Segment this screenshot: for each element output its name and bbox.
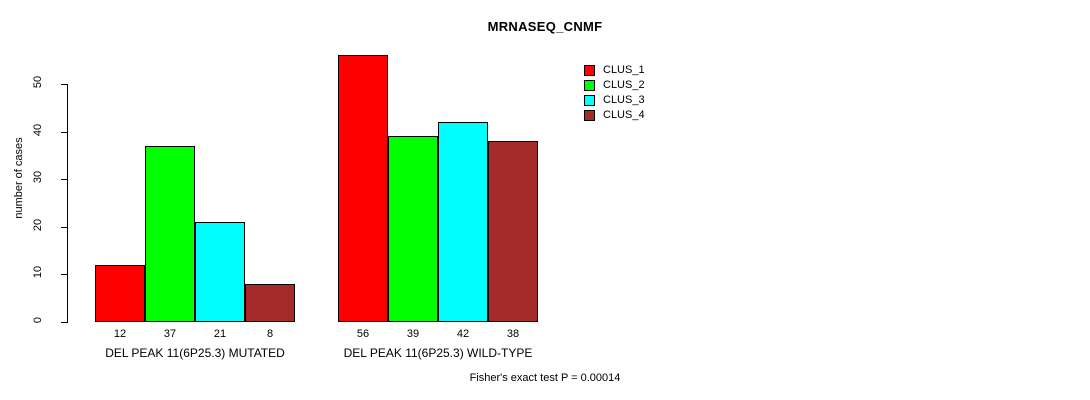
legend-item: CLUS_4 xyxy=(584,108,724,123)
y-tick-label: 50 xyxy=(32,62,44,102)
legend-label: CLUS_4 xyxy=(603,108,645,123)
bar xyxy=(245,284,295,322)
bar xyxy=(95,265,145,322)
y-tick-mark xyxy=(61,179,68,180)
y-tick-mark xyxy=(61,84,68,85)
legend-color-swatch xyxy=(584,95,595,106)
statistical-test-annotation: Fisher's exact test P = 0.00014 xyxy=(0,372,1090,384)
legend-item: CLUS_3 xyxy=(584,93,724,108)
legend-item: CLUS_2 xyxy=(584,78,724,93)
y-tick-mark xyxy=(61,274,68,275)
bar-value-label: 39 xyxy=(388,328,438,340)
barplot-figure: MRNASEQ_CNMF 01020304050 number of cases… xyxy=(0,0,1090,400)
bar-value-label: 12 xyxy=(95,328,145,340)
y-axis-line xyxy=(67,84,68,323)
legend-label: CLUS_3 xyxy=(603,93,645,108)
bar-value-label: 56 xyxy=(338,328,388,340)
bar xyxy=(145,146,195,322)
bar-value-label: 8 xyxy=(245,328,295,340)
legend-label: CLUS_2 xyxy=(603,78,645,93)
bar-value-label: 38 xyxy=(488,328,538,340)
plot-area: 01020304050 number of cases 123721856394… xyxy=(0,0,1090,400)
group-axis-label: DEL PEAK 11(6P25.3) WILD-TYPE xyxy=(288,346,588,360)
y-tick-label: 40 xyxy=(32,110,44,150)
bar-value-label: 21 xyxy=(195,328,245,340)
legend-item: CLUS_1 xyxy=(584,63,724,78)
y-tick-label: 30 xyxy=(32,157,44,197)
y-tick-mark xyxy=(61,322,68,323)
bar xyxy=(195,222,245,322)
bar-value-label: 37 xyxy=(145,328,195,340)
y-tick-label: 10 xyxy=(32,252,44,292)
legend-color-swatch xyxy=(584,80,595,91)
bar-value-label: 42 xyxy=(438,328,488,340)
bar xyxy=(388,136,438,322)
legend: CLUS_1CLUS_2CLUS_3CLUS_4 xyxy=(584,63,724,123)
y-tick-label: 20 xyxy=(32,205,44,245)
bar xyxy=(488,141,538,322)
legend-color-swatch xyxy=(584,110,595,121)
legend-color-swatch xyxy=(584,65,595,76)
y-tick-label: 0 xyxy=(32,300,44,340)
y-axis-title: number of cases xyxy=(13,123,25,233)
y-tick-mark xyxy=(61,132,68,133)
bar xyxy=(338,55,388,322)
y-tick-mark xyxy=(61,227,68,228)
legend-label: CLUS_1 xyxy=(603,63,645,78)
bar xyxy=(438,122,488,322)
